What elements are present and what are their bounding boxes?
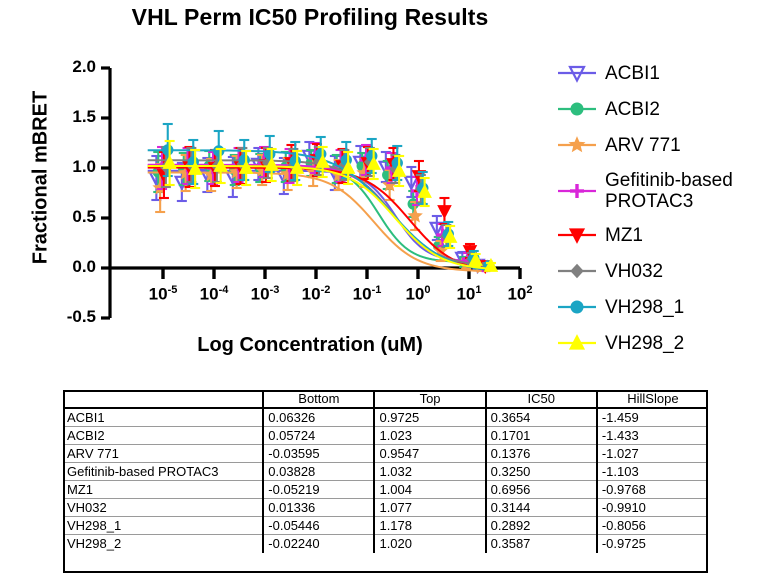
table-cell-hillslope: -1.027 (597, 445, 708, 463)
table-cell-hillslope: -1.103 (597, 463, 708, 481)
table-cell-name: VH032 (63, 499, 263, 517)
table-cell-bottom: -0.05446 (263, 517, 374, 535)
table-body: ACBI10.063260.97250.3654-1.459ACBI20.057… (63, 408, 708, 553)
table-row: MZ1-0.052191.0040.6956-0.9768 (63, 481, 708, 499)
table-cell-top: 1.077 (374, 499, 485, 517)
table-col-header-top: Top (374, 390, 485, 408)
table-row: ACBI20.057241.0230.1701-1.433 (63, 427, 708, 445)
table-cell-bottom: 0.01336 (263, 499, 374, 517)
table-cell-hillslope: -1.433 (597, 427, 708, 445)
legend-label: VH298_2 (598, 333, 684, 354)
legend-item-mz1[interactable]: MZ1 (556, 224, 765, 246)
table-cell-ic50: 0.1376 (486, 445, 597, 463)
table-cell-hillslope: -0.9910 (597, 499, 708, 517)
table-row: ARV 771-0.035950.95470.1376-1.027 (63, 445, 708, 463)
legend-item-arv-771[interactable]: ARV 771 (556, 134, 765, 156)
data-point (265, 149, 275, 159)
legend: ACBI1ACBI2ARV 771Gefitinib-basedPROTAC3M… (556, 62, 765, 368)
table-cell-name: Gefitinib-based PROTAC3 (63, 463, 263, 481)
table-cell-ic50: 0.3250 (486, 463, 597, 481)
data-series-group (148, 124, 497, 273)
data-point (163, 145, 173, 155)
legend-item-vh298_1[interactable]: VH298_1 (556, 296, 765, 318)
table-cell-name: ARV 771 (63, 445, 263, 463)
legend-marker-circle-icon (556, 98, 598, 120)
legend-marker-triangle-down-open-icon (556, 62, 598, 84)
table-cell-ic50: 0.3654 (486, 408, 597, 427)
table-cell-name: ACBI2 (63, 427, 263, 445)
y-tick-label: 1.5 (42, 107, 96, 127)
table-cell-name: ACBI1 (63, 408, 263, 427)
legend-marker-triangle-down-icon (556, 224, 598, 246)
y-tick-label: 0.0 (42, 257, 96, 277)
y-tick-label: 0.5 (42, 207, 96, 227)
y-tick-label: 2.0 (42, 57, 96, 77)
legend-label: ACBI1 (598, 63, 660, 84)
table-cell-bottom: -0.02240 (263, 535, 374, 553)
table-cell-hillslope: -0.9725 (597, 535, 708, 553)
x-axis-title: Log Concentration (uM) (95, 334, 525, 357)
legend-marker-plus-icon (556, 180, 598, 202)
table-col-header-bottom: Bottom (263, 390, 374, 408)
table-col-header-ic50: IC50 (486, 390, 597, 408)
table-cell-hillslope: -0.8056 (597, 517, 708, 535)
legend-label: MZ1 (598, 225, 643, 246)
legend-label: ACBI2 (598, 99, 660, 120)
table-row: Gefitinib-based PROTAC30.038281.0320.325… (63, 463, 708, 481)
table-cell-top: 1.023 (374, 427, 485, 445)
table-row: ACBI10.063260.97250.3654-1.459 (63, 408, 708, 427)
table-row: VH0320.013361.0770.3144-0.9910 (63, 499, 708, 517)
table-cell-bottom: -0.05219 (263, 481, 374, 499)
table-cell-bottom: 0.06326 (263, 408, 374, 427)
table-cell-hillslope: -0.9768 (597, 481, 708, 499)
table-cell-bottom: 0.03828 (263, 463, 374, 481)
chart-page: VHL Perm IC50 Profiling Results Fraction… (0, 0, 765, 587)
table-cell-top: 0.9547 (374, 445, 485, 463)
table-row: VH298_2-0.022401.0200.3587-0.9725 (63, 535, 708, 553)
table-cell-ic50: 0.2892 (486, 517, 597, 535)
y-tick-label: 1.0 (42, 157, 96, 177)
table-cell-bottom: 0.05724 (263, 427, 374, 445)
table-col-header-hillslope: HillSlope (597, 390, 708, 408)
legend-item-vh298_2[interactable]: VH298_2 (556, 332, 765, 354)
table-cell-hillslope: -1.459 (597, 408, 708, 427)
table-cell-top: 1.032 (374, 463, 485, 481)
table-cell-bottom: -0.03595 (263, 445, 374, 463)
legend-label: Gefitinib-basedPROTAC3 (598, 170, 733, 212)
legend-label: ARV 771 (598, 135, 681, 156)
table-cell-top: 0.9725 (374, 408, 485, 427)
legend-marker-triangle-up-icon (556, 332, 598, 354)
legend-label: VH298_1 (598, 297, 684, 318)
table-cell-top: 1.020 (374, 535, 485, 553)
legend-marker-circle-icon (556, 296, 598, 318)
legend-item-acbi2[interactable]: ACBI2 (556, 98, 765, 120)
legend-item-gefitinib-based-protac3[interactable]: Gefitinib-basedPROTAC3 (556, 170, 765, 212)
x-tick-label: 102 (490, 284, 550, 305)
table-header: BottomTopIC50HillSlope (63, 390, 708, 408)
legend-item-vh032[interactable]: VH032 (556, 260, 765, 282)
table-cell-name: MZ1 (63, 481, 263, 499)
y-tick-label: -0.5 (42, 307, 96, 327)
table-header-row: BottomTopIC50HillSlope (63, 390, 708, 408)
legend-marker-star-icon (556, 134, 598, 156)
table-row: VH298_1-0.054461.1780.2892-0.8056 (63, 517, 708, 535)
table-cell-name: VH298_2 (63, 535, 263, 553)
legend-marker-diamond-icon (556, 260, 598, 282)
legend-item-acbi1[interactable]: ACBI1 (556, 62, 765, 84)
table-cell-top: 1.178 (374, 517, 485, 535)
data-point (214, 146, 224, 156)
table-cell-ic50: 0.3587 (486, 535, 597, 553)
table-cell-ic50: 0.6956 (486, 481, 597, 499)
table-cell-ic50: 0.1701 (486, 427, 597, 445)
legend-label: VH032 (598, 261, 663, 282)
page-title: VHL Perm IC50 Profiling Results (0, 4, 620, 31)
table-cell-ic50: 0.3144 (486, 499, 597, 517)
results-table: BottomTopIC50HillSlope ACBI10.063260.972… (63, 390, 708, 553)
table-cell-top: 1.004 (374, 481, 485, 499)
table-col-header-blank (63, 390, 263, 408)
plot-area: Fractional mBRET Log Concentration (uM) … (0, 48, 560, 373)
axis-lines (110, 68, 520, 318)
table-cell-name: VH298_1 (63, 517, 263, 535)
